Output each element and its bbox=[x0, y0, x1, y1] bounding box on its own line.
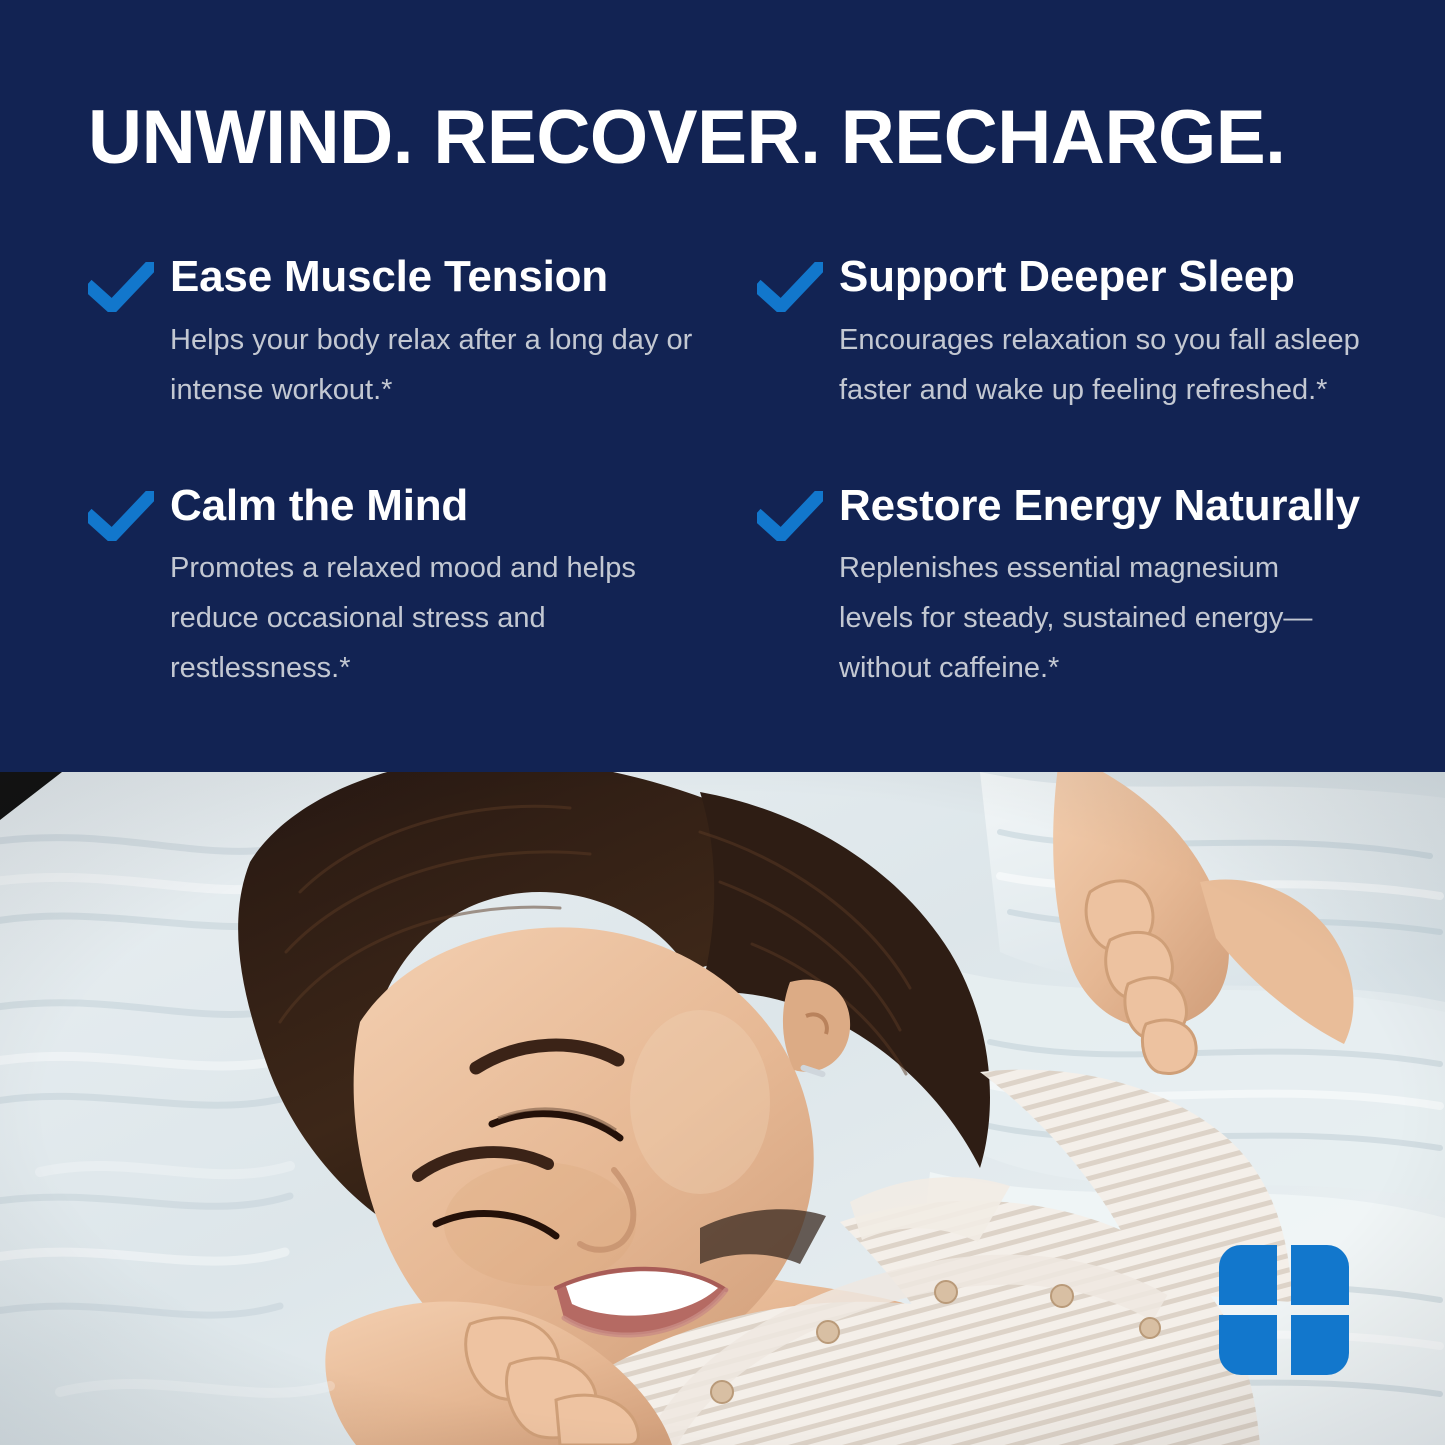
benefit-item: Ease Muscle Tension Helps your body rela… bbox=[88, 254, 757, 415]
benefit-description: Encourages relaxation so you fall asleep… bbox=[839, 315, 1360, 415]
benefits-panel: UNWIND. RECOVER. RECHARGE. Ease Muscle T… bbox=[0, 0, 1445, 772]
benefit-description: Replenishes essential magnesium levels f… bbox=[839, 543, 1360, 693]
benefit-item: Support Deeper Sleep Encourages relaxati… bbox=[757, 254, 1360, 415]
product-benefits-infographic: UNWIND. RECOVER. RECHARGE. Ease Muscle T… bbox=[0, 0, 1445, 1445]
page-title: UNWIND. RECOVER. RECHARGE. bbox=[88, 0, 1338, 176]
check-icon bbox=[88, 254, 170, 312]
woman-sleeping-in-bed-photo bbox=[0, 772, 1445, 1445]
benefit-title: Calm the Mind bbox=[170, 483, 757, 530]
benefit-title: Ease Muscle Tension bbox=[170, 254, 757, 301]
benefit-item: Restore Energy Naturally Replenishes ess… bbox=[757, 483, 1360, 694]
check-icon bbox=[757, 483, 839, 541]
check-icon bbox=[757, 254, 839, 312]
four-square-brand-logo bbox=[1201, 1227, 1367, 1393]
check-icon bbox=[88, 483, 170, 541]
benefit-title: Restore Energy Naturally bbox=[839, 483, 1360, 530]
benefit-text: Calm the Mind Promotes a relaxed mood an… bbox=[170, 483, 757, 694]
benefit-description: Helps your body relax after a long day o… bbox=[170, 315, 730, 415]
benefit-item: Calm the Mind Promotes a relaxed mood an… bbox=[88, 483, 757, 694]
benefit-text: Ease Muscle Tension Helps your body rela… bbox=[170, 254, 757, 415]
benefit-title: Support Deeper Sleep bbox=[839, 254, 1360, 301]
benefits-grid: Ease Muscle Tension Helps your body rela… bbox=[88, 254, 1357, 693]
benefit-text: Restore Energy Naturally Replenishes ess… bbox=[839, 483, 1360, 694]
benefit-description: Promotes a relaxed mood and helps reduce… bbox=[170, 543, 730, 693]
benefit-text: Support Deeper Sleep Encourages relaxati… bbox=[839, 254, 1360, 415]
